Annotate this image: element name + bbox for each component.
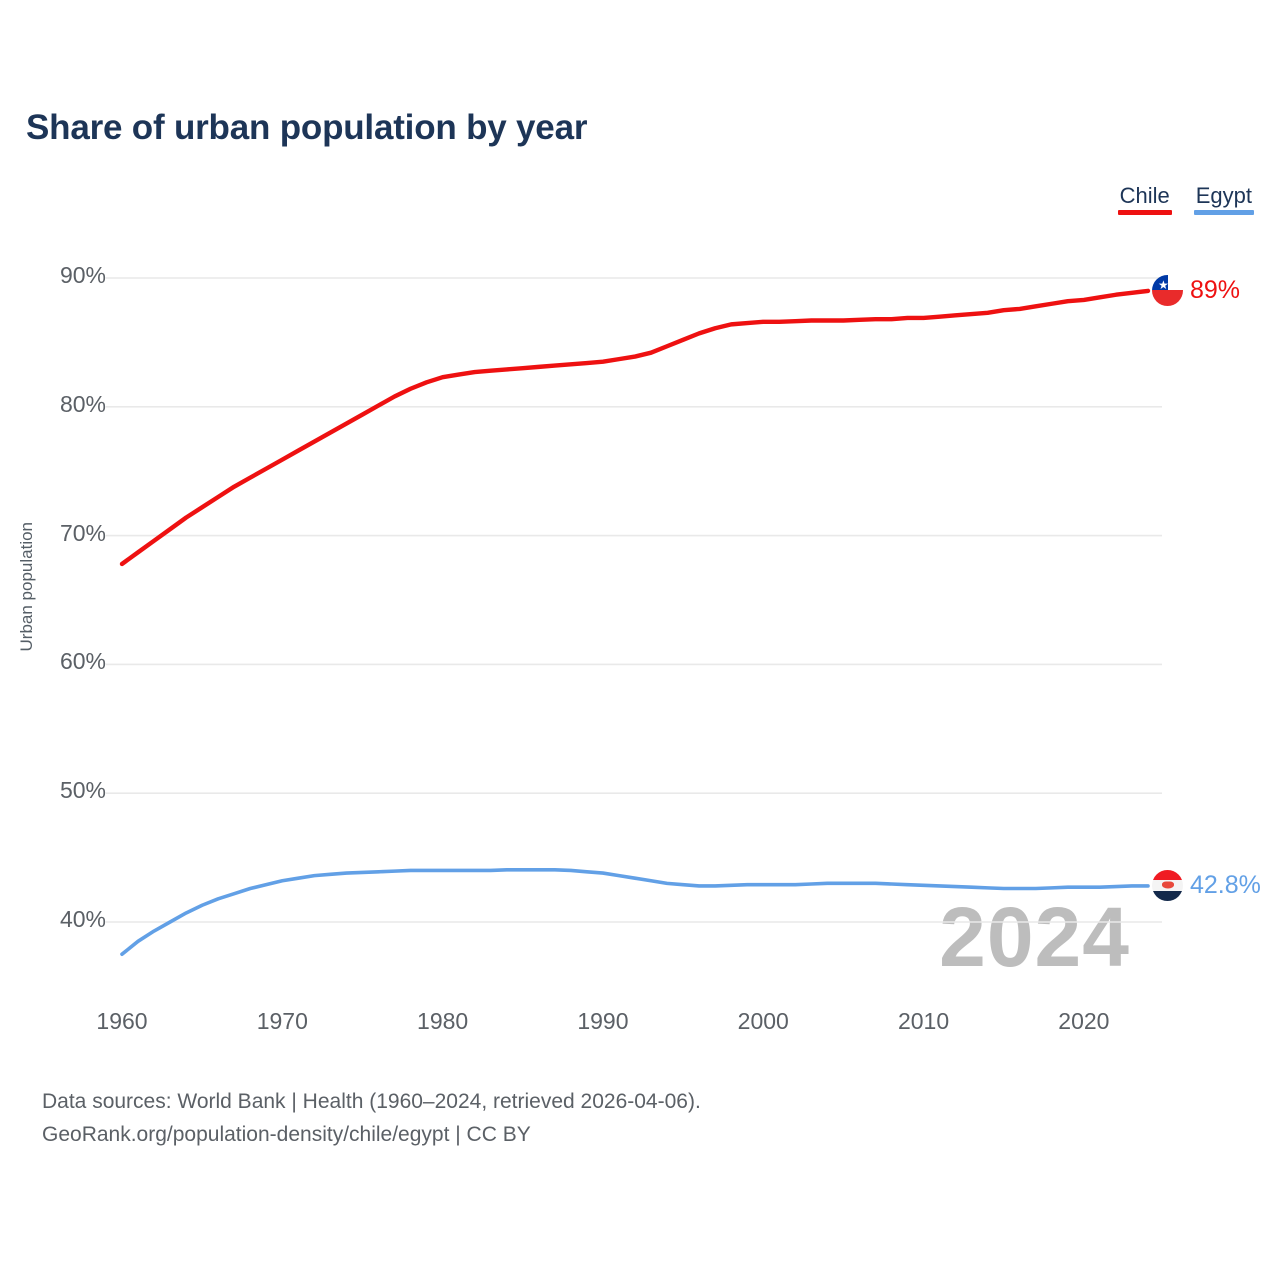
series-line-chile — [122, 291, 1148, 564]
endpoint-marker-egypt: 42.8% — [1152, 870, 1261, 901]
footer-attribution: Data sources: World Bank | Health (1960–… — [42, 1086, 701, 1151]
egypt-flag-icon — [1152, 870, 1183, 901]
footer-line-1: Data sources: World Bank | Health (1960–… — [42, 1086, 701, 1119]
endpoint-value-egypt: 42.8% — [1190, 871, 1261, 900]
chart-page: Share of urban population by year Chile … — [0, 0, 1280, 1280]
series-line-egypt — [122, 870, 1148, 954]
chile-flag-icon: ★ — [1152, 275, 1183, 306]
endpoint-marker-chile: ★ 89% — [1152, 275, 1240, 306]
endpoint-value-chile: 89% — [1190, 276, 1240, 305]
footer-line-2: GeoRank.org/population-density/chile/egy… — [42, 1119, 701, 1152]
